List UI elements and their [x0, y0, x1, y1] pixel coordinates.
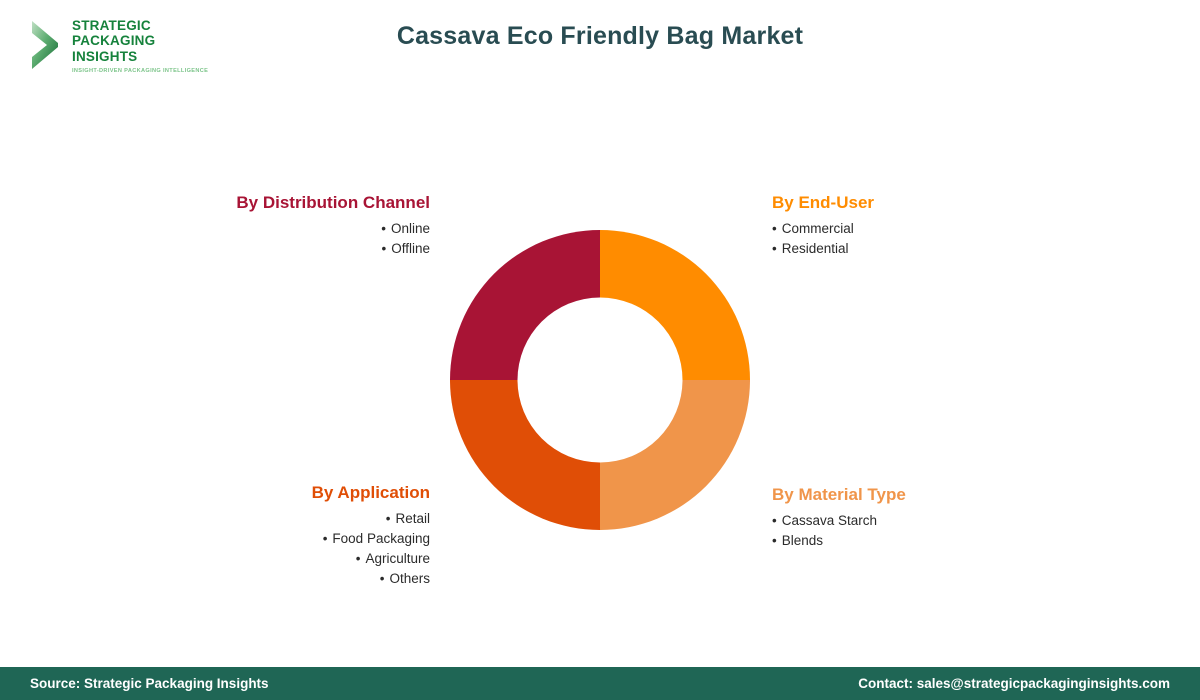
- segment-distribution-channel-list: Online Offline: [190, 219, 430, 259]
- segment-material-type-title: By Material Type: [772, 485, 1012, 505]
- list-item: Others: [190, 569, 430, 589]
- list-item: Food Packaging: [190, 529, 430, 549]
- segment-material-type: By Material Type Cassava Starch Blends: [772, 485, 1012, 551]
- list-item: Commercial: [772, 219, 1012, 239]
- segment-material-type-list: Cassava Starch Blends: [772, 511, 1012, 551]
- list-item: Cassava Starch: [772, 511, 1012, 531]
- segment-end-user-title: By End-User: [772, 193, 1012, 213]
- footer-bar: Source: Strategic Packaging Insights Con…: [0, 667, 1200, 700]
- list-item: Agriculture: [190, 549, 430, 569]
- footer-source: Source: Strategic Packaging Insights: [30, 676, 269, 691]
- segment-end-user-list: Commercial Residential: [772, 219, 1012, 259]
- logo-tagline: INSIGHT-DRIVEN PACKAGING INTELLIGENCE: [72, 68, 218, 74]
- segment-distribution-channel-title: By Distribution Channel: [190, 193, 430, 213]
- list-item: Offline: [190, 239, 430, 259]
- segment-distribution-channel: By Distribution Channel Online Offline: [190, 193, 430, 259]
- list-item: Retail: [190, 509, 430, 529]
- list-item: Online: [190, 219, 430, 239]
- donut-hole: [518, 298, 683, 463]
- segment-end-user: By End-User Commercial Residential: [772, 193, 1012, 259]
- donut-chart: [450, 230, 750, 530]
- footer-contact: Contact: sales@strategicpackaginginsight…: [858, 676, 1170, 691]
- list-item: Residential: [772, 239, 1012, 259]
- segment-application-list: Retail Food Packaging Agriculture Others: [190, 509, 430, 589]
- segment-application-title: By Application: [190, 483, 430, 503]
- segment-application: By Application Retail Food Packaging Agr…: [190, 483, 430, 589]
- donut-chart-svg: [450, 230, 750, 530]
- page-title: Cassava Eco Friendly Bag Market: [0, 22, 1200, 51]
- list-item: Blends: [772, 531, 1012, 551]
